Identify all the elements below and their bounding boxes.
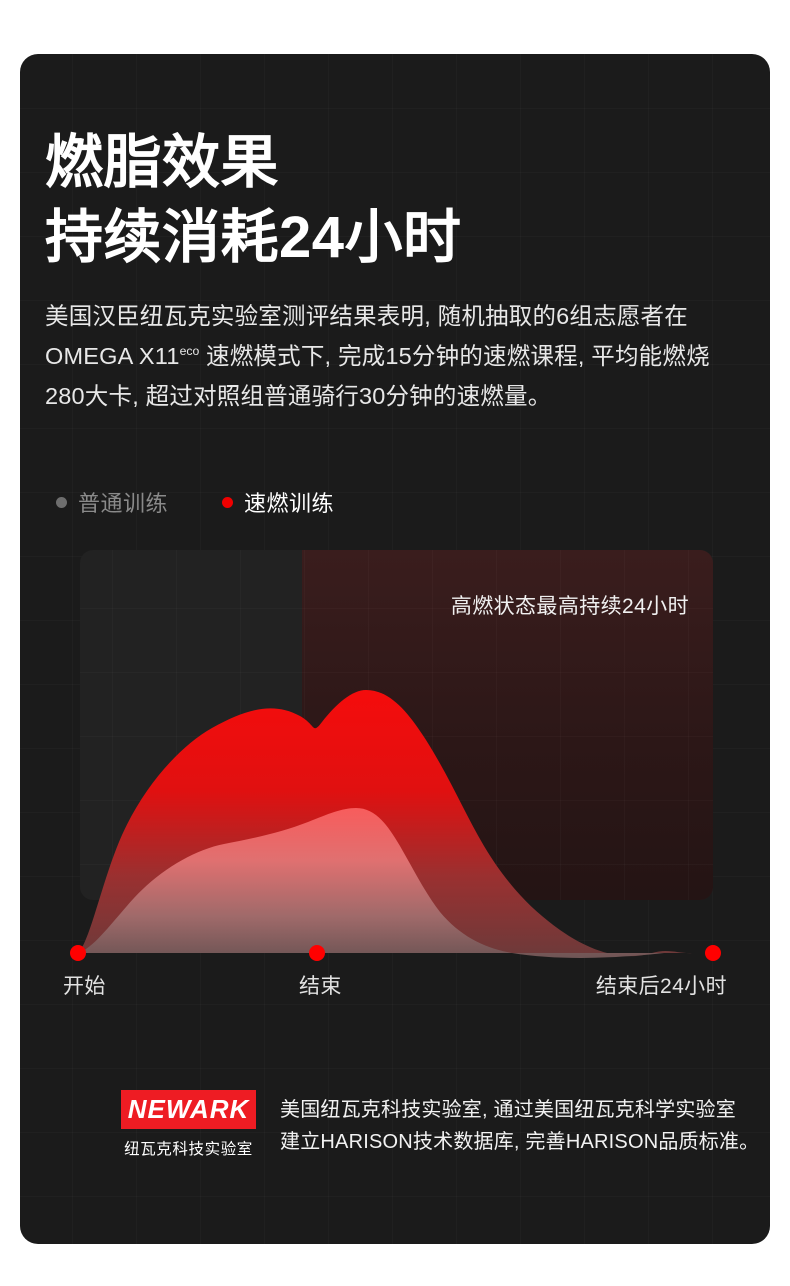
brand-subtitle: 纽瓦克科技实验室 <box>121 1137 256 1159</box>
newark-logo: NEWARK <box>121 1090 256 1129</box>
legend-label-burn-training: 速燃训练 <box>244 486 334 518</box>
axis-marker-start <box>70 945 86 961</box>
legend-item-normal-training[interactable]: 普通训练 <box>56 486 168 518</box>
brand-lockup: NEWARK 纽瓦克科技实验室 <box>121 1090 256 1159</box>
axis-label-start: 开始 <box>63 970 106 1000</box>
legend-label-normal-training: 普通训练 <box>78 486 168 518</box>
axis-label-end: 结束 <box>299 970 342 1000</box>
legend-dot-icon <box>56 497 67 508</box>
legend-item-burn-training[interactable]: 速燃训练 <box>222 486 334 518</box>
axis-marker-after-24h <box>705 945 721 961</box>
fat-burn-chart: 高燃状态最高持续24小时 开始 结束 结束 <box>60 550 753 1000</box>
axis-marker-end <box>309 945 325 961</box>
footer-credentials: NEWARK 纽瓦克科技实验室 美国纽瓦克科技实验室, 通过美国纽瓦克科学实验室… <box>121 1090 759 1159</box>
chart-area-svg <box>60 550 753 970</box>
footer-description: 美国纽瓦克科技实验室, 通过美国纽瓦克科学实验室 建立HARISON技术数据库,… <box>280 1090 759 1159</box>
legend-dot-icon <box>222 497 233 508</box>
description-paragraph: 美国汉臣纽瓦克实验室测评结果表明, 随机抽取的6组志愿者在 OMEGA X11e… <box>45 296 721 417</box>
axis-label-after-24h: 结束后24小时 <box>596 970 727 1000</box>
chart-legend: 普通训练 速燃训练 <box>56 486 334 518</box>
page-title: 燃脂效果 持续消耗24小时 <box>45 125 462 276</box>
chart-axis-labels: 开始 结束 结束后24小时 <box>60 970 753 1010</box>
eco-superscript: eco <box>180 344 200 358</box>
